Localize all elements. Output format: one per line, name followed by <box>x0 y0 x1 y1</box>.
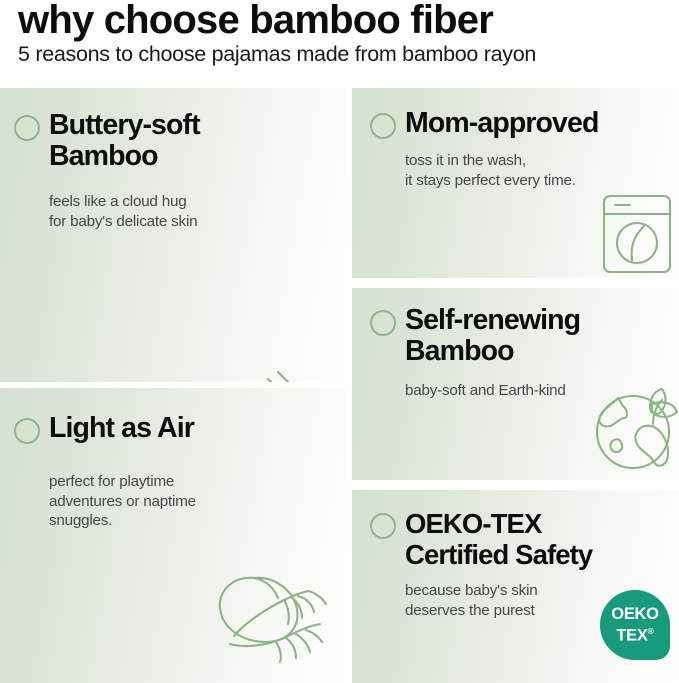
card-light-as-air: Light as Air perfect for playtime advent… <box>0 388 345 683</box>
card-self-renewing-bamboo: Self-renewing Bamboo baby-soft and Earth… <box>352 288 679 480</box>
earth-leaf-icon <box>590 378 679 474</box>
card-heading-row: Self-renewing Bamboo <box>370 305 580 367</box>
header: why choose bamboo fiber 5 reasons to cho… <box>0 0 679 86</box>
page-title: why choose bamboo fiber <box>18 0 493 42</box>
oeko-tex-badge: OEKO TEX® <box>600 590 670 660</box>
card-oeko-tex-certified-safety: OEKO-TEX Certified Safety because baby's… <box>352 490 679 683</box>
card-headline: Buttery-soft Bamboo <box>49 110 200 172</box>
page-subtitle: 5 reasons to choose pajamas made from ba… <box>18 41 536 67</box>
card-heading-row: Light as Air <box>14 413 194 444</box>
oeko-tex-badge-icon: OEKO TEX® <box>600 590 670 660</box>
circle-outline-icon <box>370 310 396 336</box>
card-headline: OEKO-TEX Certified Safety <box>405 508 592 570</box>
card-body-text: feels like a cloud hug for baby's delica… <box>49 192 197 231</box>
card-body-text: because baby's skin deserves the purest <box>405 581 538 620</box>
card-buttery-soft-bamboo: Buttery-soft Bamboo feels like a cloud h… <box>0 88 345 382</box>
circle-outline-icon <box>370 513 396 539</box>
circle-outline-icon <box>14 115 40 141</box>
card-headline: Light as Air <box>49 413 194 444</box>
oeko-tex-badge-line2: TEX® <box>616 623 653 645</box>
oeko-tex-badge-line1: OEKO <box>611 606 658 623</box>
card-headline: Self-renewing Bamboo <box>405 305 580 367</box>
oeko-tex-badge-line2-text: TEX <box>616 626 647 644</box>
infographic-page: why choose bamboo fiber 5 reasons to cho… <box>0 0 679 683</box>
circle-outline-icon <box>370 113 396 139</box>
circle-outline-icon <box>14 418 40 444</box>
card-headline: Mom-approved <box>405 108 598 139</box>
card-heading-row: OEKO-TEX Certified Safety <box>370 508 592 570</box>
feather-icon <box>210 566 340 676</box>
open-hand-icon <box>224 354 336 382</box>
card-body-text: baby-soft and Earth-kind <box>405 381 566 401</box>
card-heading-row: Mom-approved <box>370 108 598 139</box>
card-heading-row: Buttery-soft Bamboo <box>14 110 200 172</box>
card-mom-approved: Mom-approved toss it in the wash, it sta… <box>352 88 679 278</box>
card-body-text: toss it in the wash, it stays perfect ev… <box>405 151 576 190</box>
washing-machine-icon <box>600 192 674 276</box>
card-body-text: perfect for playtime adventures or napti… <box>49 472 196 531</box>
registered-mark: ® <box>648 626 654 636</box>
